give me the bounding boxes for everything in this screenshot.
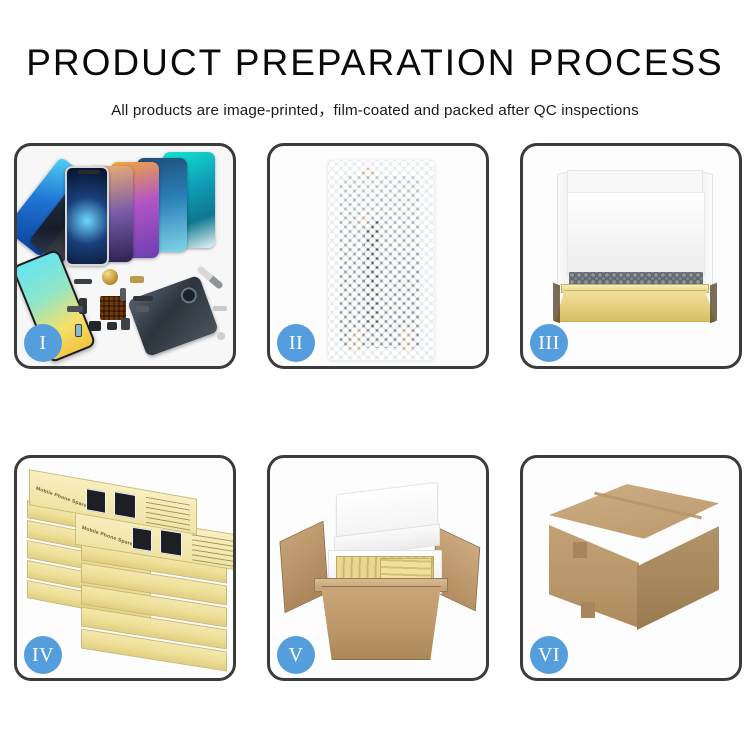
box-edge-left-icon [553, 283, 560, 324]
steps-grid: I II [14, 143, 742, 677]
step-panel-2: II [267, 143, 489, 369]
open-box-icon [543, 158, 727, 342]
carton-right-face-icon [637, 524, 719, 630]
part-icon [121, 318, 130, 330]
box-window-phone-icon [132, 527, 152, 552]
part-icon [135, 306, 149, 312]
bubble-wrap-bag-icon [328, 160, 434, 360]
header: PRODUCT PREPARATION PROCESS All products… [0, 0, 750, 120]
box-window-phone-icon [114, 491, 136, 519]
camera-lens-icon [179, 285, 200, 306]
part-icon [67, 306, 83, 312]
part-icon [120, 288, 126, 301]
part-icon [89, 321, 101, 331]
carton-body-icon [316, 586, 446, 660]
step-badge-3: III [530, 324, 568, 362]
part-icon [107, 322, 117, 330]
part-icon [75, 324, 82, 337]
box-front-panel-icon [555, 290, 715, 322]
step-panel-1: I [14, 143, 236, 369]
product-preparation-infographic: PRODUCT PREPARATION PROCESS All products… [0, 0, 750, 750]
carton-tape-upper-icon [573, 542, 587, 558]
carton-tape-lower-icon [581, 602, 595, 618]
step-panel-6: VI [520, 455, 742, 681]
phone-device-1-icon [65, 166, 109, 266]
part-icon [130, 276, 144, 283]
box-spec-lines-icon [192, 534, 233, 567]
screw-icon [217, 332, 225, 340]
sealed-carton-icon [541, 484, 727, 650]
page-subtitle: All products are image-printed，film-coat… [0, 98, 750, 120]
part-icon [213, 306, 227, 311]
box-window-phone-icon [86, 488, 106, 514]
step-badge-6: VI [530, 636, 568, 674]
part-icon [74, 279, 92, 284]
page-title: PRODUCT PREPARATION PROCESS [0, 44, 750, 81]
box-spec-lines-icon [146, 497, 190, 531]
part-icon [133, 296, 153, 301]
vibrator-motor-part-icon [102, 269, 118, 285]
step-badge-2: II [277, 324, 315, 362]
carton-flap-left-icon [279, 521, 328, 614]
phone-back-housing-icon [127, 275, 219, 357]
step-badge-4: IV [24, 636, 62, 674]
step-badge-5: V [277, 636, 315, 674]
box-edge-right-icon [710, 283, 717, 324]
step-badge-1: I [24, 324, 62, 362]
step-panel-5: V [267, 455, 489, 681]
box-window-phone-icon [160, 529, 182, 556]
step-panel-4: Mobile Phone Spare Parts Mobile Phone Sp… [14, 455, 236, 681]
carton-open-icon [280, 474, 480, 668]
foam-padding-icon [567, 192, 705, 276]
bubble-highlight-icon [328, 160, 434, 360]
step-panel-3: III [520, 143, 742, 369]
